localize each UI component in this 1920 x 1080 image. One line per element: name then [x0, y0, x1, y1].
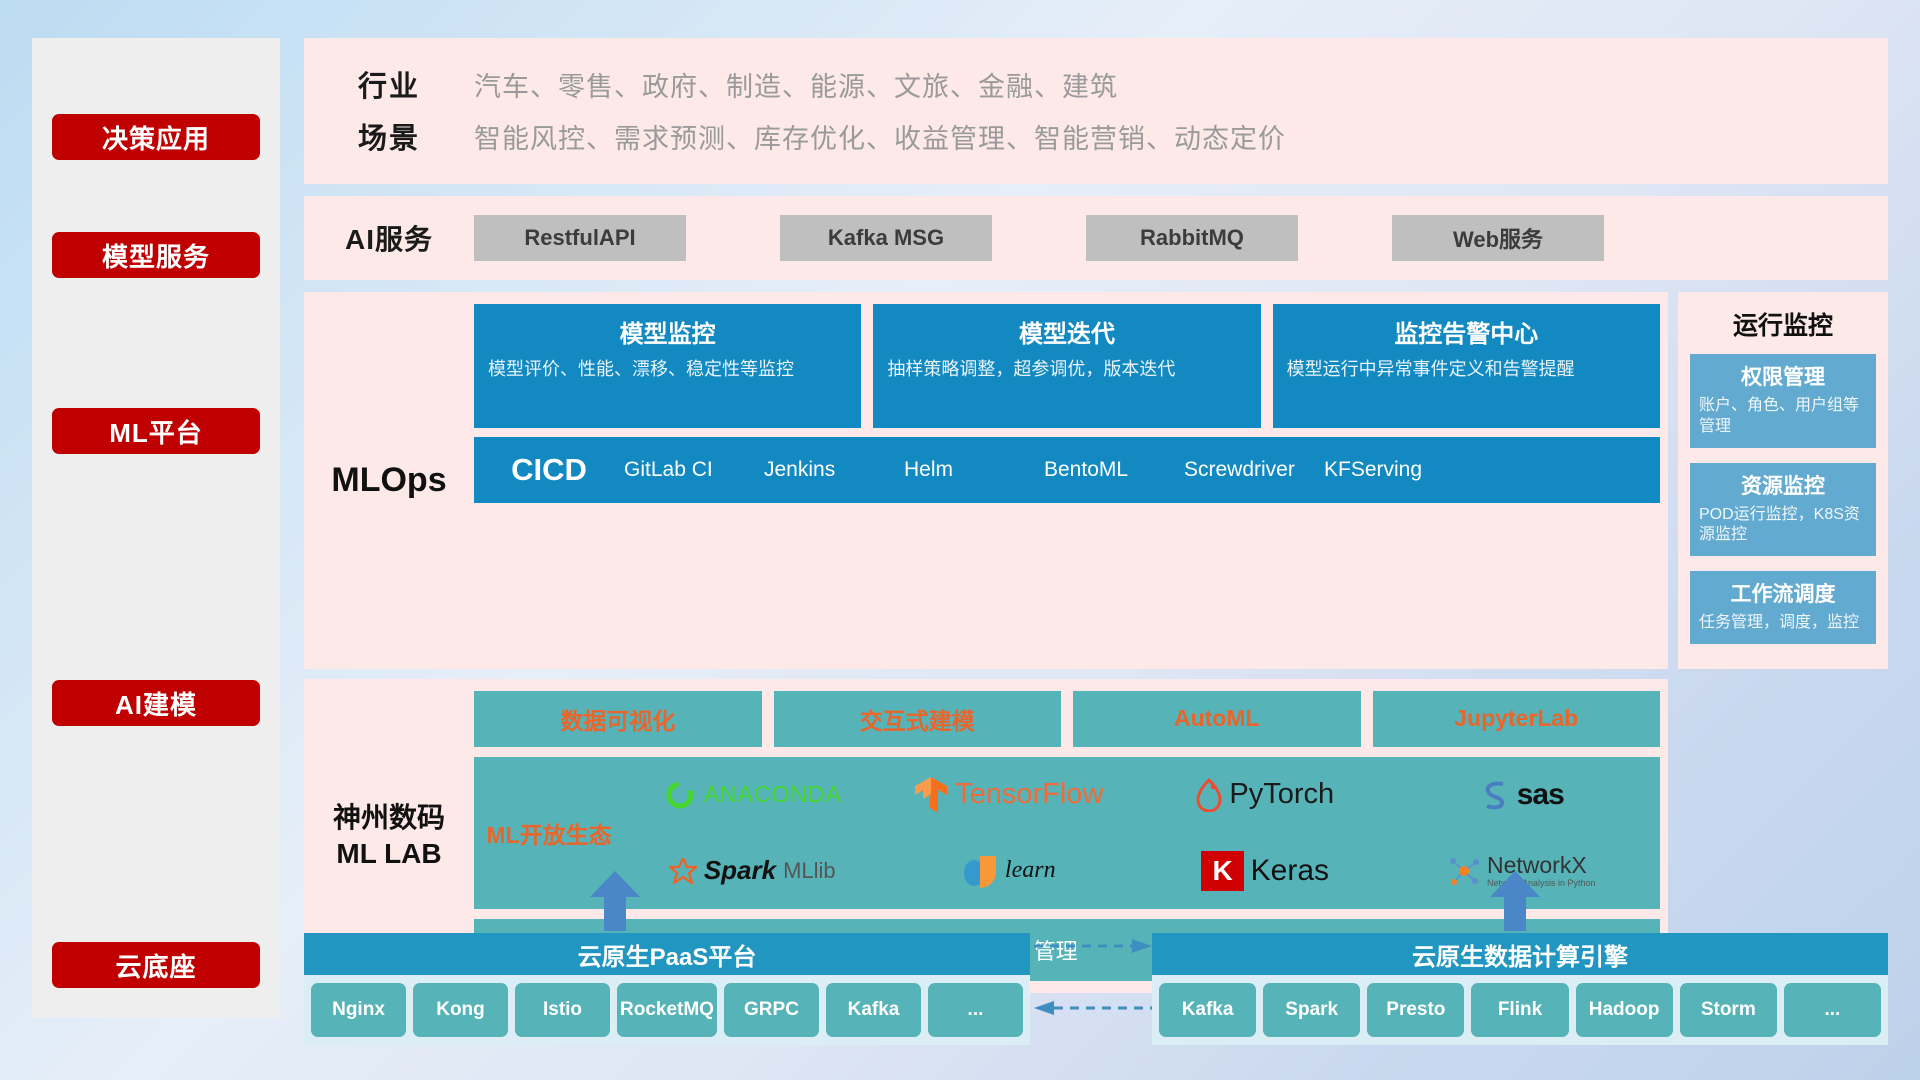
card-title: 工作流调度 [1699, 578, 1867, 608]
rail-item-ai-modeling[interactable]: AI建模 [52, 680, 260, 726]
cloud-paas-chip-list: Nginx Kong Istio RocketMQ GRPC Kafka ... [304, 975, 1030, 1045]
cloud-chip-hadoop[interactable]: Hadoop [1576, 983, 1673, 1037]
tool-chip-jupyterlab[interactable]: JupyterLab [1373, 691, 1661, 747]
logo-anaconda: ANACONDA [624, 778, 881, 812]
mlops-card-model-iteration[interactable]: 模型迭代 抽样策略调整，超参调优，版本迭代 [873, 304, 1260, 428]
cicd-item-screwdriver[interactable]: Screwdriver [1184, 458, 1324, 482]
up-arrow-icon [588, 871, 642, 931]
arrow-right-dashed-icon [1034, 939, 1152, 953]
ai-service-label: AI服务 [304, 218, 474, 258]
logo-text: Keras [1251, 854, 1329, 888]
cloud-chip-istio[interactable]: Istio [515, 983, 610, 1037]
chip-label: RabbitMQ [1140, 225, 1244, 251]
card-title: 资源监控 [1699, 470, 1867, 500]
scenario-values: 智能风控、需求预测、库存优化、收益管理、智能营销、动态定价 [474, 117, 1286, 156]
card-title: 监控告警中心 [1287, 314, 1646, 349]
logo-text: ANACONDA [704, 781, 842, 808]
cloud-data-engine-title: 云原生数据计算引擎 [1152, 933, 1888, 975]
anaconda-icon [663, 778, 697, 812]
sas-icon [1480, 779, 1510, 811]
rail-item-decision-app[interactable]: 决策应用 [52, 114, 260, 160]
cloud-chip-storm[interactable]: Storm [1680, 983, 1777, 1037]
industry-values: 汽车、零售、政府、制造、能源、文旅、金融、建筑 [474, 65, 1118, 104]
cloud-chip-rocketmq[interactable]: RocketMQ [617, 983, 717, 1037]
cicd-item-kfserving[interactable]: KFServing [1324, 458, 1464, 482]
logo-text: learn [1005, 857, 1056, 884]
networkx-icon [1448, 855, 1480, 887]
ai-service-chip-rabbitmq[interactable]: RabbitMQ [1086, 215, 1298, 261]
ai-service-chip-restfulapi[interactable]: RestfulAPI [474, 215, 686, 261]
rail-label: ML平台 [109, 413, 203, 450]
industry-scenario-band: 行业 汽车、零售、政府、制造、能源、文旅、金融、建筑 场景 智能风控、需求预测、… [304, 38, 1888, 184]
logo-tensorflow: TensorFlow [881, 775, 1138, 815]
chip-label: Web服务 [1453, 222, 1543, 254]
ai-service-chip-web-service[interactable]: Web服务 [1392, 215, 1604, 261]
ai-service-chip-list: RestfulAPI Kafka MSG RabbitMQ Web服务 [474, 215, 1604, 261]
ai-service-chip-kafka-msg[interactable]: Kafka MSG [780, 215, 992, 261]
cloud-chip-grpc[interactable]: GRPC [724, 983, 819, 1037]
run-monitor-title: 运行监控 [1690, 306, 1876, 342]
mlops-section: MLOps 模型监控 模型评价、性能、漂移、稳定性等监控 模型迭代 抽样策略调整… [304, 292, 1888, 669]
tensorflow-icon [914, 775, 948, 815]
logo-text: sas [1517, 778, 1564, 812]
scenario-label: 场景 [304, 115, 474, 157]
logo-text: TensorFlow [955, 778, 1103, 811]
cloud-chip-kafka[interactable]: Kafka [826, 983, 921, 1037]
industry-row: 行业 汽车、零售、政府、制造、能源、文旅、金融、建筑 [304, 58, 1888, 110]
modeling-tool-list: 数据可视化 交互式建模 AutoML JupyterLab [474, 691, 1660, 747]
card-title: 模型监控 [488, 314, 847, 349]
monitor-card-workflow[interactable]: 工作流调度 任务管理，调度，监控 [1690, 571, 1876, 644]
chip-label: Kafka MSG [828, 225, 944, 251]
cloud-chip-flink[interactable]: Flink [1471, 983, 1568, 1037]
tool-chip-data-visualization[interactable]: 数据可视化 [474, 691, 762, 747]
cicd-bar: CICD GitLab CI Jenkins Helm BentoML Scre… [474, 437, 1660, 503]
cloud-data-engine-panel: 云原生数据计算引擎 Kafka Spark Presto Flink Hadoo… [1152, 933, 1888, 1045]
industry-label: 行业 [304, 63, 474, 105]
ml-lab-line2: ML LAB [336, 836, 441, 872]
scenario-row: 场景 智能风控、需求预测、库存优化、收益管理、智能营销、动态定价 [304, 110, 1888, 162]
ai-service-band: AI服务 RestfulAPI Kafka MSG RabbitMQ Web服务 [304, 196, 1888, 280]
monitor-card-permission[interactable]: 权限管理 账户、角色、用户组等管理 [1690, 354, 1876, 448]
mlops-content: 模型监控 模型评价、性能、漂移、稳定性等监控 模型迭代 抽样策略调整，超参调优，… [474, 304, 1668, 657]
cloud-chip-presto[interactable]: Presto [1367, 983, 1464, 1037]
cloud-link-arrows [1030, 915, 1152, 1045]
arrow-left-dashed-icon [1034, 1001, 1152, 1015]
cloud-base-row: 云原生PaaS平台 Nginx Kong Istio RocketMQ GRPC… [304, 885, 1888, 1045]
ml-ecosystem-label: ML开放生态 [474, 816, 624, 850]
rail-label: 决策应用 [102, 119, 210, 156]
logo-sas: sas [1394, 778, 1651, 812]
layer-rail: 决策应用 模型服务 ML平台 AI建模 云底座 [32, 38, 280, 1018]
mlops-card-model-monitoring[interactable]: 模型监控 模型评价、性能、漂移、稳定性等监控 [474, 304, 861, 428]
mlops-card-alert-center[interactable]: 监控告警中心 模型运行中异常事件定义和告警提醒 [1273, 304, 1660, 428]
logo-pytorch: PyTorch [1137, 778, 1394, 812]
run-monitor-panel: 运行监控 权限管理 账户、角色、用户组等管理 资源监控 POD运行监控，K8S资… [1678, 292, 1888, 669]
rail-label: 云底座 [115, 947, 196, 984]
spark-icon [669, 858, 697, 884]
rail-item-ml-platform[interactable]: ML平台 [52, 408, 260, 454]
cloud-paas-panel: 云原生PaaS平台 Nginx Kong Istio RocketMQ GRPC… [304, 933, 1030, 1045]
mlops-label: MLOps [304, 304, 474, 657]
cloud-chip-more[interactable]: ... [928, 983, 1023, 1037]
tool-chip-automl[interactable]: AutoML [1073, 691, 1361, 747]
logo-text-spark: Spark [704, 855, 776, 886]
logo-text: PyTorch [1229, 778, 1334, 811]
ml-lab-line1: 神州数码 [333, 800, 445, 836]
monitor-card-resource[interactable]: 资源监控 POD运行监控，K8S资源监控 [1690, 463, 1876, 557]
cicd-item-gitlab-ci[interactable]: GitLab CI [624, 458, 764, 482]
card-desc: POD运行监控，K8S资源监控 [1699, 505, 1867, 547]
logo-text: MLlib [783, 858, 836, 884]
cloud-chip-spark[interactable]: Spark [1263, 983, 1360, 1037]
rail-label: AI建模 [115, 685, 197, 722]
mlops-band: MLOps 模型监控 模型评价、性能、漂移、稳定性等监控 模型迭代 抽样策略调整… [304, 292, 1668, 669]
pytorch-icon [1196, 778, 1222, 812]
cicd-item-bentoml[interactable]: BentoML [1044, 458, 1184, 482]
cloud-chip-kafka[interactable]: Kafka [1159, 983, 1256, 1037]
cicd-item-helm[interactable]: Helm [904, 458, 1044, 482]
rail-item-cloud-base[interactable]: 云底座 [52, 942, 260, 988]
cloud-chip-more[interactable]: ... [1784, 983, 1881, 1037]
card-title: 权限管理 [1699, 361, 1867, 391]
architecture-stack: 行业 汽车、零售、政府、制造、能源、文旅、金融、建筑 场景 智能风控、需求预测、… [304, 38, 1888, 993]
card-desc: 模型评价、性能、漂移、稳定性等监控 [488, 357, 847, 381]
rail-item-model-service[interactable]: 模型服务 [52, 232, 260, 278]
cicd-label: CICD [474, 452, 624, 488]
tool-chip-interactive-modeling[interactable]: 交互式建模 [774, 691, 1062, 747]
mlops-card-list: 模型监控 模型评价、性能、漂移、稳定性等监控 模型迭代 抽样策略调整，超参调优，… [474, 304, 1660, 428]
up-arrow-icon [1488, 871, 1542, 931]
card-desc: 抽样策略调整，超参调优，版本迭代 [887, 357, 1246, 381]
card-desc: 模型运行中异常事件定义和告警提醒 [1287, 357, 1646, 381]
card-desc: 任务管理，调度，监控 [1699, 613, 1867, 634]
chip-label: RestfulAPI [524, 225, 635, 251]
cloud-data-engine-chip-list: Kafka Spark Presto Flink Hadoop Storm ..… [1152, 975, 1888, 1045]
card-title: 模型迭代 [887, 314, 1246, 349]
cloud-chip-nginx[interactable]: Nginx [311, 983, 406, 1037]
cloud-chip-kong[interactable]: Kong [413, 983, 508, 1037]
rail-label: 模型服务 [102, 237, 210, 274]
card-desc: 账户、角色、用户组等管理 [1699, 396, 1867, 438]
logo-spark-mllib: Spark MLlib [624, 855, 881, 886]
cloud-paas-title: 云原生PaaS平台 [304, 933, 1030, 975]
cicd-item-jenkins[interactable]: Jenkins [764, 458, 904, 482]
